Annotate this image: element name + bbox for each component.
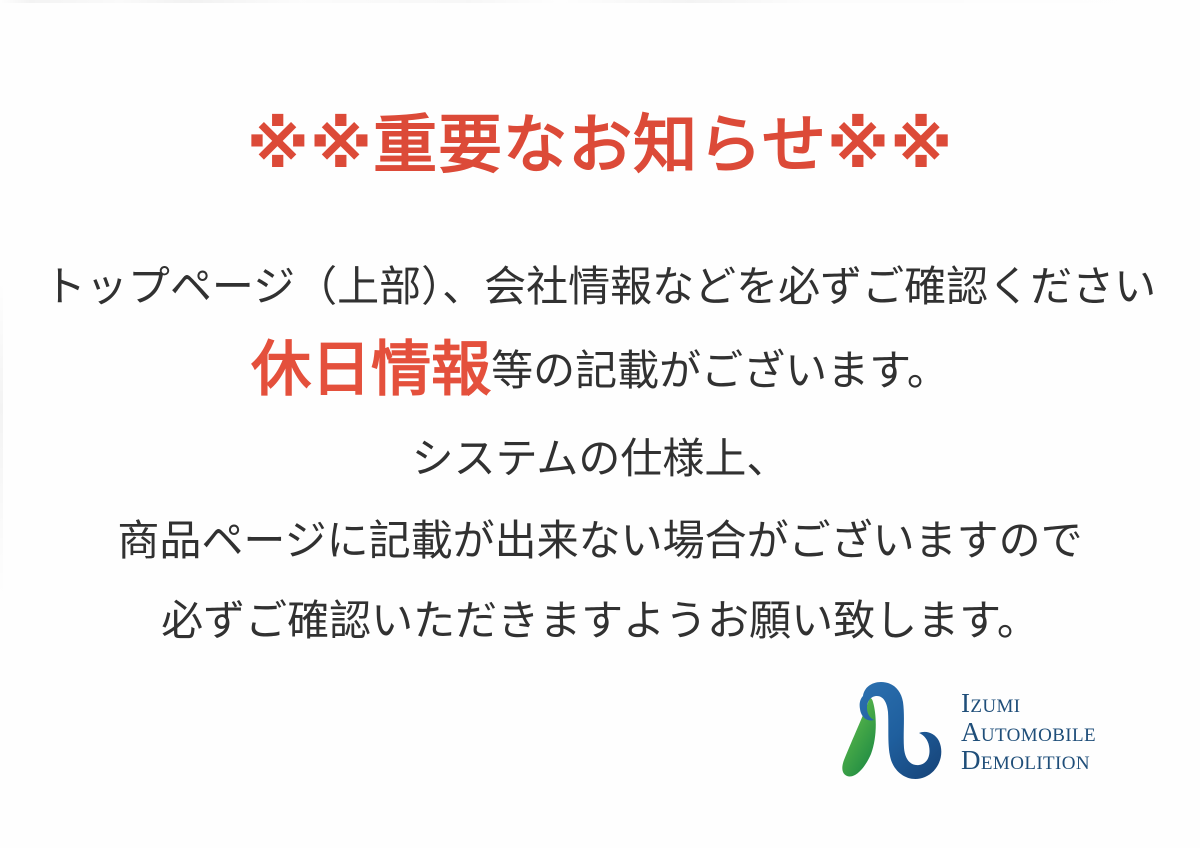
logo-wordmark-line-3: Demolition bbox=[961, 746, 1096, 775]
notice-line-1: トップページ（上部）、会社情報などを必ずご確認ください bbox=[0, 266, 1200, 308]
page-title: ※※重要なお知らせ※※ bbox=[0, 112, 1200, 179]
notice-line-2-tail: 等の記載がございます。 bbox=[491, 347, 949, 394]
logo-wordmark-line-2: Automobile bbox=[961, 718, 1096, 747]
scan-artifact-top bbox=[0, 0, 1200, 3]
notice-line-3: システムの仕様上、 bbox=[0, 438, 1200, 480]
scanned-notice-page: ※※重要なお知らせ※※ トップページ（上部）、会社情報などを必ずご確認ください … bbox=[0, 0, 1200, 848]
logo-wordmark: Izumi Automobile Demolition bbox=[961, 689, 1096, 775]
holiday-info-emphasis: 休日情報 bbox=[251, 336, 491, 403]
notice-body: トップページ（上部）、会社情報などを必ずご確認ください 休日情報等の記載がござい… bbox=[0, 258, 1200, 642]
notice-line-4: 商品ページに記載が出来ない場合がございますので bbox=[0, 520, 1200, 562]
notice-line-5: 必ずご確認いただきますようお願い致します。 bbox=[0, 600, 1200, 642]
logo-wordmark-line-1: Izumi bbox=[961, 689, 1096, 718]
izumi-wave-leaf-logo-icon bbox=[833, 676, 955, 788]
notice-line-2: 休日情報等の記載がございます。 bbox=[0, 340, 1200, 400]
company-logo: Izumi Automobile Demolition bbox=[833, 672, 1123, 792]
